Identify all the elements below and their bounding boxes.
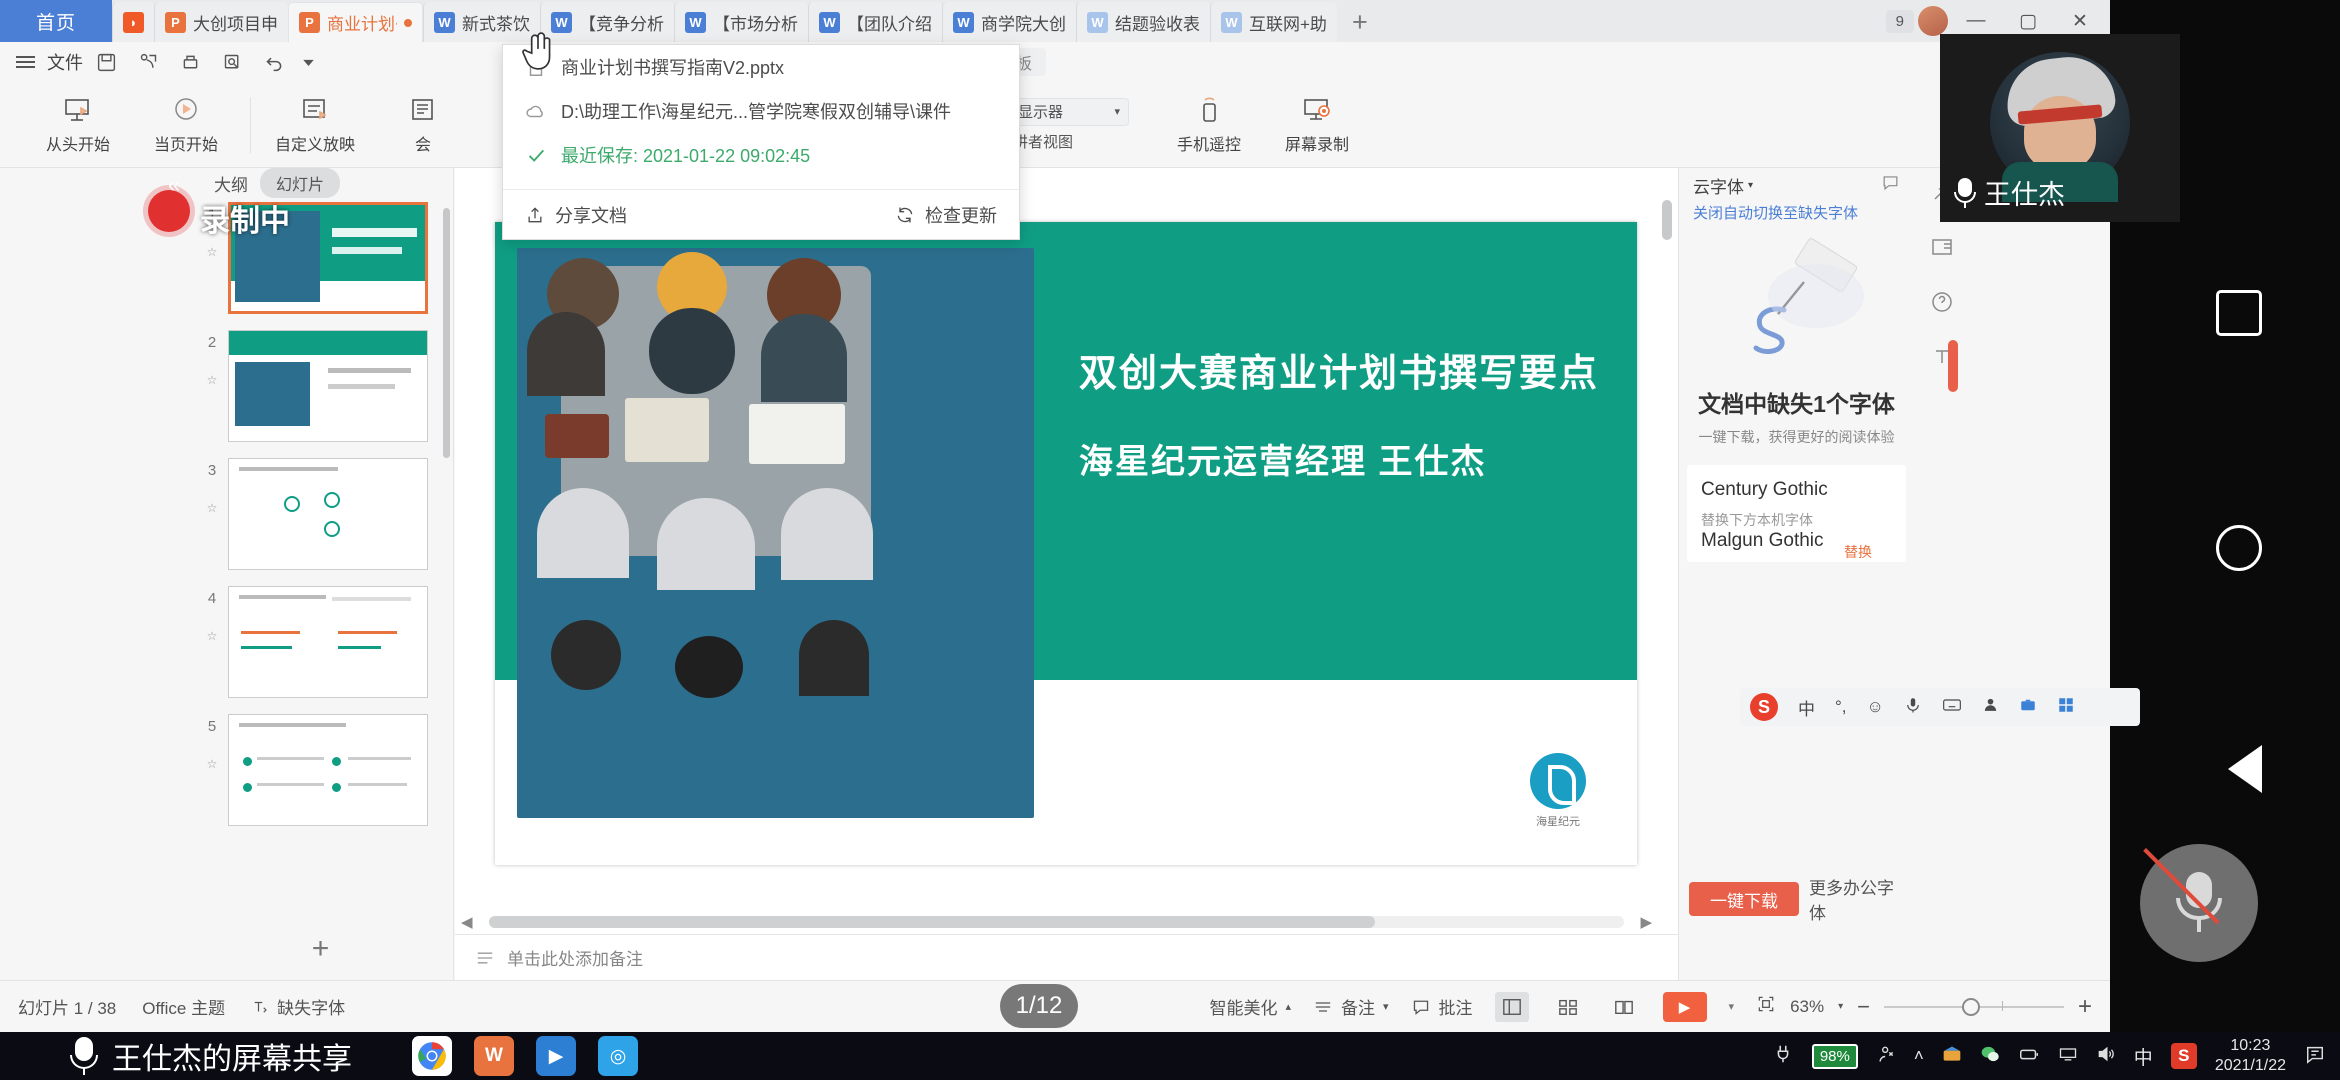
microphone-icon: [70, 1037, 98, 1075]
tab-slides[interactable]: 幻灯片: [260, 168, 340, 198]
dropdown-filename-row[interactable]: 商业计划书撰写指南V2.pptx: [503, 45, 1019, 89]
missing-font-name: Century Gothic: [1701, 479, 1892, 501]
wps-icon[interactable]: W: [474, 1036, 514, 1076]
fit-to-window-icon[interactable]: [1756, 994, 1776, 1019]
redo-icon[interactable]: [297, 46, 319, 78]
panel-tabs: 大纲 幻灯片: [188, 168, 453, 198]
notification-center-icon[interactable]: [2304, 1044, 2326, 1069]
tab-label: 大创项目申: [193, 10, 278, 35]
wps-presentation-window: 首页 ◗ P 大创项目申 P 商业计划书 W 新式茶饮 W 【竞争分析 W 【市…: [0, 0, 2110, 1032]
battery-percent: 98%: [1812, 1044, 1858, 1069]
screen-share-status: 王仕杰的屏幕共享: [0, 1034, 352, 1078]
tab-count-badge[interactable]: 9: [1886, 10, 1914, 33]
thumbnail-image[interactable]: [228, 458, 428, 570]
cloud-font-header: 云字体 ▾: [1679, 168, 1914, 202]
user-icon[interactable]: [1982, 696, 1999, 718]
tab-label: 互联网+助: [1249, 10, 1327, 35]
cloud-font-title: 云字体: [1693, 173, 1744, 198]
network-icon[interactable]: [2058, 1045, 2078, 1068]
add-slide-button[interactable]: +: [188, 932, 453, 966]
logo-caption: 海星纪元: [1521, 813, 1595, 829]
show-hidden-icons-chevron-icon[interactable]: ˄: [1914, 1046, 1924, 1066]
chevron-down-icon: ▾: [1383, 1000, 1389, 1013]
tab-label: 【团队介绍: [847, 10, 932, 35]
recording-status-text: 录制中: [200, 196, 290, 240]
file-menu-button[interactable]: 文件: [47, 49, 83, 75]
present-from-start-icon: [61, 95, 95, 125]
word-icon: W: [819, 12, 840, 33]
meeting-button[interactable]: 会: [371, 87, 475, 163]
clock-date: 2021/1/22: [2215, 1057, 2286, 1074]
slide-subtitle[interactable]: 海星纪元运营经理 王仕杰: [1079, 434, 1599, 483]
menu-icon[interactable]: [16, 56, 35, 68]
pen-writing-icon: [1712, 236, 1882, 376]
missing-font-title: 文档中缺失1个字体: [1679, 385, 1914, 419]
rbtn-label: 当页开始: [154, 131, 218, 155]
notes-toggle-button[interactable]: 备注 ▾: [1313, 994, 1389, 1019]
battery-indicator[interactable]: 98%: [1812, 1044, 1858, 1069]
taskbar-app-icons: W ▶ ◎: [412, 1036, 638, 1076]
tab-project-acceptance[interactable]: W 结题验收表: [1076, 2, 1210, 42]
home-icon[interactable]: [2216, 525, 2262, 571]
thumbnail-number: 5☆: [202, 714, 222, 771]
thumbnail-image[interactable]: [228, 330, 428, 442]
thumbnail-number: 3☆: [202, 458, 222, 515]
dropdown-filename: 商业计划书撰写指南V2.pptx: [561, 54, 784, 80]
scroll-thumb[interactable]: [1662, 200, 1672, 240]
collapse-arrows-icon[interactable]: «: [168, 172, 180, 198]
chrome-icon[interactable]: [412, 1036, 452, 1076]
present-from-current-button[interactable]: 当页开始: [134, 87, 238, 163]
ime-mode-label[interactable]: 中: [1798, 695, 1815, 720]
auto-switch-link[interactable]: 关闭自动切换至缺失字体: [1679, 202, 1914, 223]
zoom-tick: [2002, 1001, 2003, 1011]
dropdown-footer: 分享文档 检查更新: [503, 189, 1019, 239]
slide-illustration[interactable]: [517, 248, 1034, 818]
font-replacement-card: Century Gothic 替换下方本机字体 Malgun Gothic 替换: [1687, 465, 1906, 562]
word-icon: W: [1221, 12, 1242, 33]
chevron-up-icon: ▴: [1285, 1000, 1291, 1013]
grid-icon[interactable]: [2057, 696, 2075, 719]
webcam-name-badge: 王仕杰: [1954, 173, 2065, 212]
tab-outline[interactable]: 大纲: [214, 171, 248, 196]
check-update-button[interactable]: 检查更新: [895, 202, 997, 228]
font-warning-icon: [251, 998, 269, 1016]
webcam-overlay[interactable]: 王仕杰: [1940, 34, 2180, 222]
ime-indicator[interactable]: 中: [2134, 1043, 2153, 1070]
more-fonts-button[interactable]: 更多办公字体: [1809, 874, 1904, 924]
wechat-icon[interactable]: [1980, 1044, 2000, 1069]
webcam-name: 王仕杰: [1984, 173, 2065, 212]
scroll-left-arrow[interactable]: ◀: [461, 913, 473, 931]
slide-title[interactable]: 双创大赛商业计划书撰写要点: [1079, 342, 1599, 397]
reading-view-button[interactable]: [1607, 992, 1641, 1022]
emoji-icon[interactable]: ☺: [1867, 697, 1884, 717]
refresh-icon: [895, 205, 915, 225]
logo-icon: [1530, 753, 1586, 809]
unsaved-dot-icon: [404, 19, 412, 27]
check-icon: [525, 144, 547, 166]
undo-icon[interactable]: [255, 46, 293, 78]
scroll-thumb[interactable]: [489, 916, 1375, 928]
rbtn-label: 手机遥控: [1177, 131, 1241, 155]
font-panel-actions: 一键下载 更多办公字体: [1679, 874, 1914, 924]
download-fonts-button[interactable]: 一键下载: [1689, 882, 1799, 916]
slide-thumbnail-panel: 大纲 幻灯片 1☆ 2☆: [188, 168, 454, 980]
feedback-icon[interactable]: [1881, 173, 1900, 197]
save-icon[interactable]: [87, 46, 125, 78]
scroll-right-arrow[interactable]: ▶: [1640, 913, 1652, 931]
document-info-dropdown[interactable]: 商业计划书撰写指南V2.pptx D:\助理工作\海星纪元...管学院寒假双创辅…: [502, 44, 1020, 240]
taskbar-system-tray: 98% ˄ 中 S 10:23 2021/1/22: [1772, 1036, 2340, 1076]
media-player-icon[interactable]: ▶: [536, 1036, 576, 1076]
flame-icon: ◗: [123, 12, 144, 33]
rbtn-label: 屏幕录制: [1285, 131, 1349, 155]
print-preview-icon[interactable]: [213, 46, 251, 78]
list-item[interactable]: 5☆: [202, 714, 453, 826]
start-slideshow-button[interactable]: ▶: [1663, 992, 1707, 1022]
replace-hint: 替换下方本机字体: [1701, 510, 1892, 530]
ppt-icon: P: [165, 12, 186, 33]
font-illustration: [1679, 231, 1914, 381]
slide-logo: 海星纪元: [1521, 753, 1595, 829]
mute-microphone-button[interactable]: [2140, 844, 2258, 962]
local-font-name[interactable]: Malgun Gothic: [1701, 530, 1824, 551]
zoom-value[interactable]: 63%: [1790, 997, 1824, 1017]
rbtn-label: 从头开始: [46, 131, 110, 155]
tab-label: 结题验收表: [1115, 10, 1200, 35]
zoom-slider[interactable]: [1884, 1006, 2064, 1008]
list-item[interactable]: 4☆: [202, 586, 453, 698]
word-icon: W: [1087, 12, 1108, 33]
help-icon[interactable]: [1930, 290, 1954, 319]
share-document-button[interactable]: 分享文档: [525, 202, 627, 228]
tab-label: 【竞争分析: [579, 10, 664, 35]
tab-competition-analysis[interactable]: W 【竞争分析: [540, 2, 674, 42]
share-label: 王仕杰的屏幕共享: [112, 1034, 352, 1078]
custom-show-icon: [298, 95, 332, 125]
thumbnail-scrollbar[interactable]: [443, 208, 450, 458]
chevron-down-icon: ▾: [1114, 105, 1120, 118]
chevron-down-icon[interactable]: ▾: [1748, 180, 1753, 191]
ribbon-divider: [250, 97, 251, 153]
screen-record-button[interactable]: 屏幕录制: [1265, 87, 1369, 163]
save-as-icon[interactable]: [129, 46, 167, 78]
replace-button[interactable]: 替换: [1844, 542, 1872, 562]
punctuation-icon[interactable]: °,: [1835, 697, 1847, 717]
slide-canvas[interactable]: 双创大赛商业计划书撰写要点 海星纪元运营经理 王仕杰 海星纪元: [495, 222, 1637, 865]
scroll-track[interactable]: [489, 916, 1625, 928]
phone-remote-button[interactable]: 手机遥控: [1157, 87, 1261, 163]
tab-business-school[interactable]: W 商学院大创: [942, 2, 1076, 42]
people-icon[interactable]: [1876, 1044, 1896, 1069]
webcam-video: [1990, 52, 2130, 192]
stage-horizontal-scrollbar[interactable]: ◀ ▶: [461, 914, 1652, 930]
zoom-controls: 63% ▾ − +: [1756, 993, 2092, 1021]
thumbnail-image[interactable]: [228, 714, 428, 826]
word-icon: W: [434, 12, 455, 33]
ribbon-toolbar: 从头开始 当页开始 自定义放映 会 主要显示器 ▾: [0, 82, 2110, 168]
tim-icon[interactable]: ◎: [598, 1036, 638, 1076]
dropdown-saved-label: 最近保存: 2021-01-22 09:02:45: [561, 142, 810, 168]
notes-icon: [1313, 999, 1333, 1015]
tab-label: 【市场分析: [713, 10, 798, 35]
ppt-icon: P: [299, 12, 320, 33]
ime-toolbar[interactable]: S 中 °, ☺: [1740, 688, 2140, 726]
tab-internet-plus[interactable]: W 互联网+助: [1210, 2, 1337, 42]
zoom-slider-handle[interactable]: [1962, 998, 1980, 1016]
power-plug-icon[interactable]: [1772, 1043, 1794, 1070]
voice-input-icon[interactable]: [1904, 696, 1922, 719]
normal-view-button[interactable]: [1495, 992, 1529, 1022]
tab-home[interactable]: 首页: [0, 0, 112, 42]
mouse-cursor-hand-icon: [520, 30, 556, 72]
share-icon: [525, 205, 545, 225]
slide-sorter-button[interactable]: [1551, 992, 1585, 1022]
notes-label: 备注: [1341, 994, 1375, 1019]
page-indicator-badge: 1/12: [1000, 984, 1078, 1028]
volume-icon[interactable]: [2096, 1044, 2116, 1069]
layout-icon[interactable]: [1930, 235, 1954, 264]
zoom-out-button[interactable]: −: [1857, 994, 1870, 1020]
tab-business-plan[interactable]: P 商业计划书: [288, 2, 423, 42]
new-tab-button[interactable]: +: [1337, 2, 1383, 42]
chevron-down-icon[interactable]: ▾: [1729, 1000, 1735, 1013]
list-item[interactable]: 3☆: [202, 458, 453, 570]
netease-music-icon[interactable]: [1942, 1044, 1962, 1069]
cloud-icon: [525, 100, 547, 122]
thumbnail-number: 4☆: [202, 586, 222, 643]
tab-label: 商学院大创: [981, 10, 1066, 35]
thumbnail-number: 2☆: [202, 330, 222, 387]
thumbnail-list[interactable]: 1☆ 2☆ 3☆: [188, 202, 453, 980]
tab-count-value: 9: [1896, 13, 1904, 30]
tab-market-analysis[interactable]: W 【市场分析: [674, 2, 808, 42]
zoom-in-button[interactable]: +: [2078, 993, 2092, 1021]
notes-placeholder: 单击此处添加备注: [507, 945, 643, 970]
notes-pane[interactable]: 单击此处添加备注: [455, 934, 1678, 980]
tab-team-intro[interactable]: W 【团队介绍: [808, 2, 942, 42]
windows-taskbar: 王仕杰的屏幕共享 W ▶ ◎ 98% ˄: [0, 1032, 2340, 1080]
avatar[interactable]: [1918, 6, 1948, 36]
notes-icon: [475, 950, 495, 966]
toolbox-icon[interactable]: [2019, 696, 2037, 719]
thumbnail-image[interactable]: [228, 586, 428, 698]
slide-editing-area: 双创大赛商业计划书撰写要点 海星纪元运营经理 王仕杰 海星纪元 ◀ ▶ 单击此处…: [455, 168, 1678, 980]
tab-label: 商业计划书: [327, 10, 397, 35]
theme-label[interactable]: Office 主题: [142, 994, 225, 1019]
slide-counter: 幻灯片 1 / 38: [18, 994, 116, 1019]
check-update-label: 检查更新: [925, 202, 997, 228]
tab-flame-app[interactable]: ◗: [112, 2, 154, 42]
sogou-tray-icon[interactable]: S: [2171, 1043, 2197, 1069]
keyboard-icon[interactable]: [1942, 697, 1962, 718]
document-tab-strip: 首页 ◗ P 大创项目申 P 商业计划书 W 新式茶饮 W 【竞争分析 W 【市…: [0, 0, 2110, 42]
battery-tray-icon[interactable]: [2018, 1046, 2040, 1067]
clock[interactable]: 10:23 2021/1/22: [2215, 1036, 2286, 1076]
print-icon[interactable]: [171, 46, 209, 78]
comment-icon: [1411, 998, 1431, 1016]
phone-remote-icon: [1192, 95, 1226, 125]
sogou-icon[interactable]: S: [1750, 693, 1778, 721]
cloud-font-panel: 云字体 ▾ 关闭自动切换至缺失字体 文档中缺失1个字体 一键下载，获得更好的阅读…: [1678, 168, 1914, 980]
dropdown-path: D:\助理工作\海星纪元...管学院寒假双创辅导\课件: [561, 98, 951, 124]
rbtn-label: 自定义放映: [275, 131, 355, 155]
word-icon: W: [953, 12, 974, 33]
present-from-start-button[interactable]: 从头开始: [26, 87, 130, 163]
comment-button[interactable]: 批注: [1411, 994, 1473, 1019]
smart-beautify-button[interactable]: 智能美化 ▴: [1209, 994, 1291, 1019]
dropdown-saved-row: 最近保存: 2021-01-22 09:02:45: [503, 133, 1019, 177]
comment-label: 批注: [1439, 994, 1473, 1019]
status-bar-right: 智能美化 ▴ 备注 ▾ 批注 ▶: [1209, 992, 2092, 1022]
missing-font-text: 缺失字体: [277, 994, 345, 1019]
dropdown-path-row[interactable]: D:\助理工作\海星纪元...管学院寒假双创辅导\课件: [503, 89, 1019, 133]
microphone-icon: [1954, 178, 1976, 208]
custom-show-button[interactable]: 自定义放映: [263, 87, 367, 163]
rbtn-label: 会: [415, 131, 431, 155]
quick-access-toolbar: 文件 阅 视图: [0, 42, 2110, 82]
tab-dachuang-project[interactable]: P 大创项目申: [154, 2, 288, 42]
list-item[interactable]: 2☆: [202, 330, 453, 442]
stage-vertical-scrollbar[interactable]: [1660, 176, 1674, 910]
share-label: 分享文档: [555, 202, 627, 228]
back-icon[interactable]: [2228, 745, 2262, 793]
beautify-label: 智能美化: [1209, 994, 1277, 1019]
missing-font-subtitle: 一键下载，获得更好的阅读体验: [1679, 427, 1914, 447]
missing-font-status[interactable]: 缺失字体: [251, 994, 345, 1019]
present-from-current-icon: [169, 95, 203, 125]
scroll-indicator[interactable]: [1948, 340, 1958, 392]
recent-apps-icon[interactable]: [2216, 290, 2262, 336]
screen-record-icon: [1300, 95, 1334, 125]
meeting-icon: [406, 95, 440, 125]
chevron-down-icon[interactable]: ▾: [1838, 1001, 1843, 1012]
word-icon: W: [685, 12, 706, 33]
clock-time: 10:23: [2230, 1037, 2270, 1054]
